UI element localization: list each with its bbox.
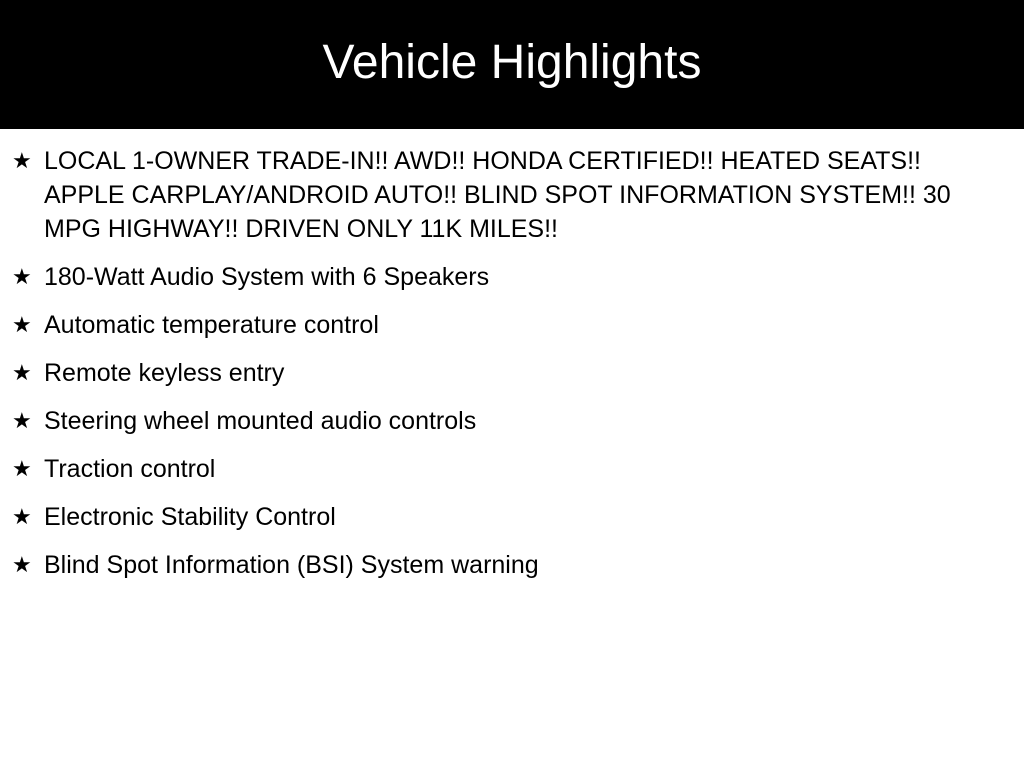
star-bullet-icon: ★: [12, 500, 44, 534]
list-item: ★ Traction control: [0, 452, 1024, 486]
list-item: ★ Automatic temperature control: [0, 308, 1024, 342]
list-item-text: Electronic Stability Control: [44, 500, 976, 534]
list-item: ★ Blind Spot Information (BSI) System wa…: [0, 548, 1024, 582]
list-item: ★ Electronic Stability Control: [0, 500, 1024, 534]
list-item: ★ LOCAL 1-OWNER TRADE-IN!! AWD!! HONDA C…: [0, 144, 1024, 246]
list-item-text: Automatic temperature control: [44, 308, 976, 342]
list-item: ★ 180-Watt Audio System with 6 Speakers: [0, 260, 1024, 294]
highlights-list: ★ LOCAL 1-OWNER TRADE-IN!! AWD!! HONDA C…: [0, 129, 1024, 582]
list-item-text: LOCAL 1-OWNER TRADE-IN!! AWD!! HONDA CER…: [44, 144, 976, 246]
list-item-text: 180-Watt Audio System with 6 Speakers: [44, 260, 976, 294]
list-item-text: Traction control: [44, 452, 976, 486]
vehicle-highlights-page: Vehicle Highlights ★ LOCAL 1-OWNER TRADE…: [0, 0, 1024, 768]
header-banner: Vehicle Highlights: [0, 0, 1024, 129]
star-bullet-icon: ★: [12, 404, 44, 438]
star-bullet-icon: ★: [12, 260, 44, 294]
list-item: ★ Remote keyless entry: [0, 356, 1024, 390]
list-item: ★ Steering wheel mounted audio controls: [0, 404, 1024, 438]
list-item-text: Blind Spot Information (BSI) System warn…: [44, 548, 976, 582]
star-bullet-icon: ★: [12, 452, 44, 486]
page-title: Vehicle Highlights: [323, 39, 702, 87]
star-bullet-icon: ★: [12, 144, 44, 178]
list-item-text: Steering wheel mounted audio controls: [44, 404, 976, 438]
star-bullet-icon: ★: [12, 548, 44, 582]
star-bullet-icon: ★: [12, 356, 44, 390]
list-item-text: Remote keyless entry: [44, 356, 976, 390]
star-bullet-icon: ★: [12, 308, 44, 342]
